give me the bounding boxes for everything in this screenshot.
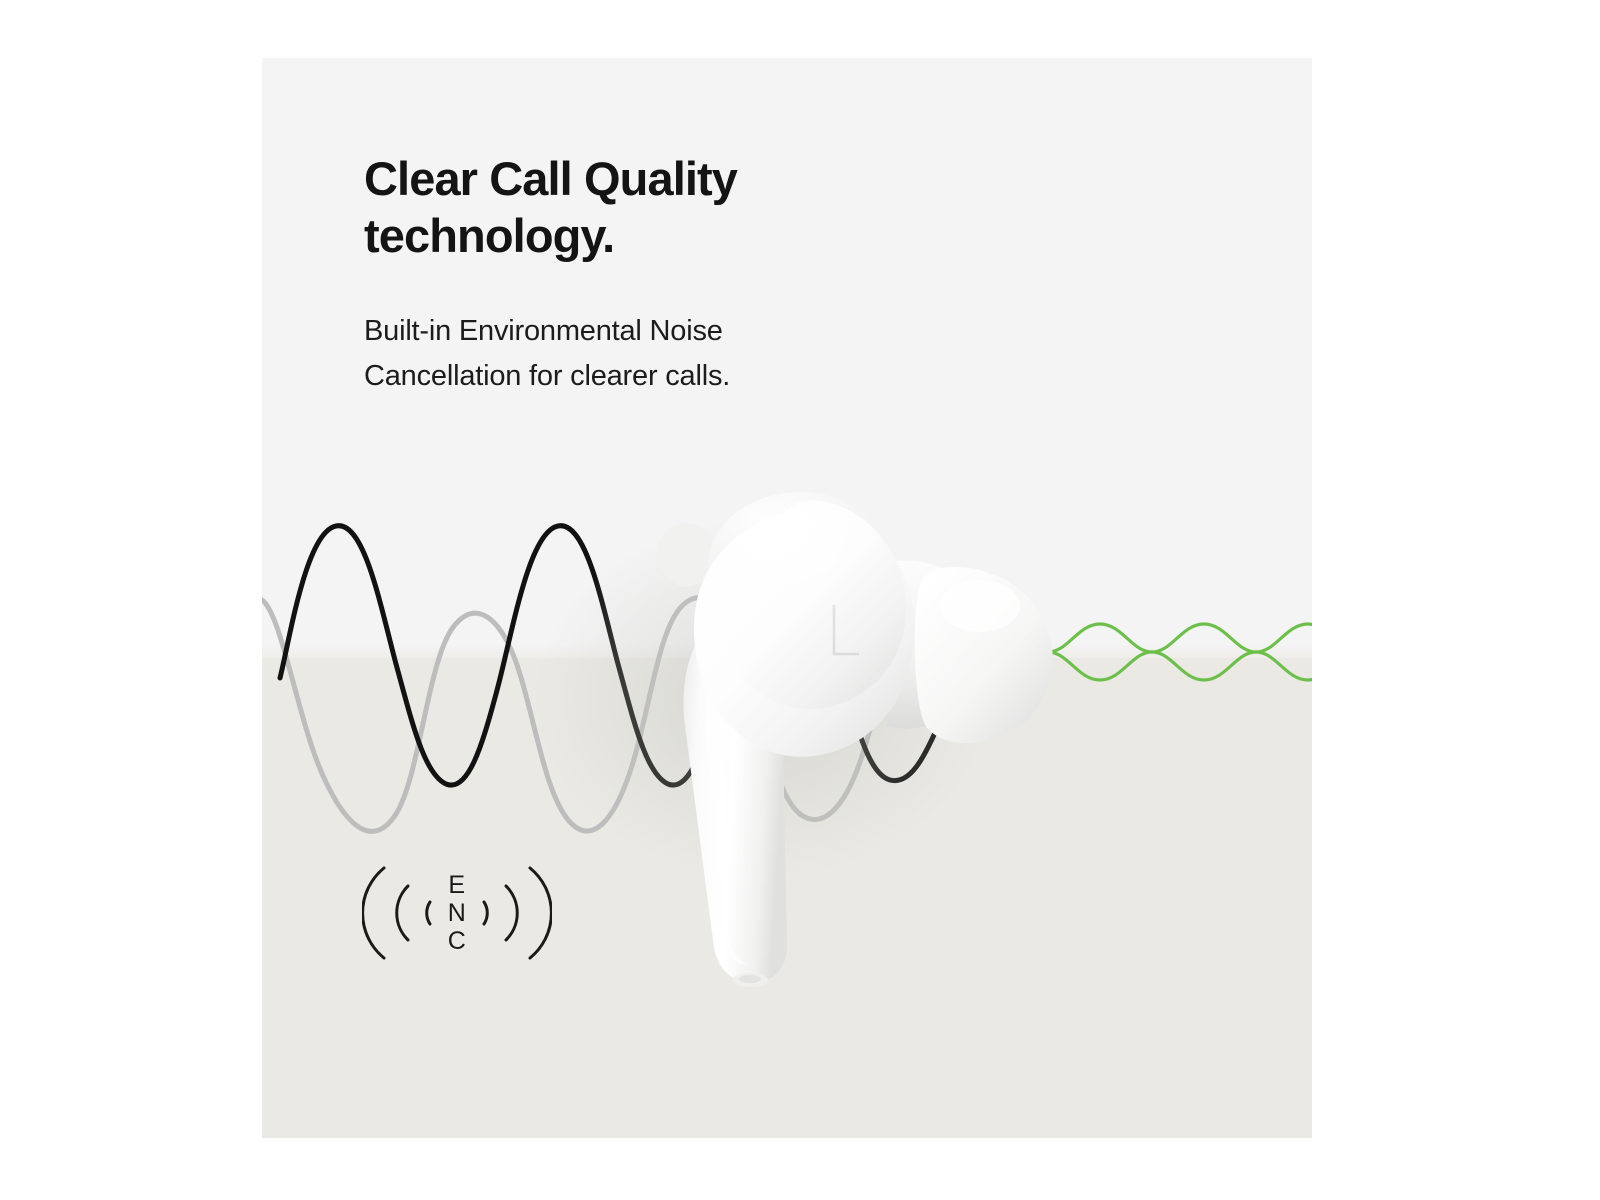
enc-letter-e: E xyxy=(448,873,465,898)
enc-letter-n: N xyxy=(448,901,467,926)
enc-letters: E N C xyxy=(362,848,552,978)
earbud-gloss xyxy=(708,492,892,640)
earbud-graphic xyxy=(532,492,1053,987)
earbud-eartip-gloss xyxy=(940,580,1020,632)
enc-badge: E N C xyxy=(362,848,552,978)
screenshot-root: Clear Call Quality technology. Built-in … xyxy=(0,0,1600,1200)
product-feature-panel: Clear Call Quality technology. Built-in … xyxy=(262,58,1312,1138)
enc-letter-c: C xyxy=(448,929,467,954)
clean-call-wave xyxy=(1048,624,1312,680)
earbud-contact-inner xyxy=(739,975,761,983)
